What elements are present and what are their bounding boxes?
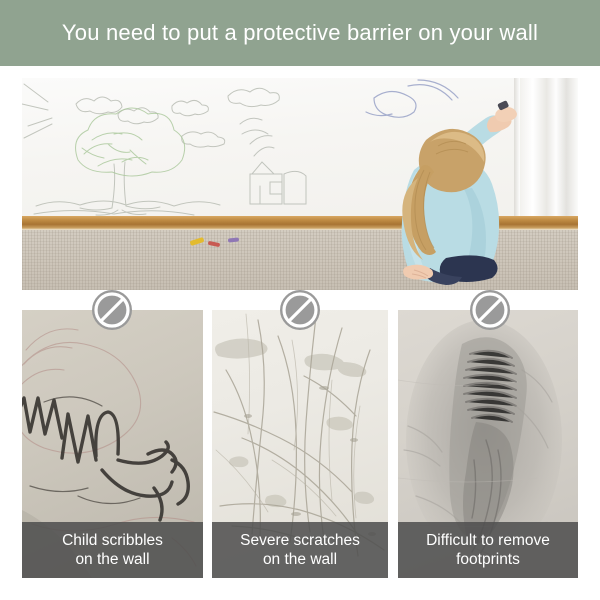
child-figure bbox=[322, 100, 522, 290]
caption-line-1: Severe scratches bbox=[240, 531, 360, 550]
panel-child-scribbles: Child scribbles on the wall bbox=[22, 310, 203, 578]
hero-photo bbox=[22, 78, 578, 290]
product-infographic: You need to put a protective barrier on … bbox=[0, 0, 600, 600]
prohibition-icon bbox=[469, 289, 511, 331]
caption-line-1: Child scribbles bbox=[62, 531, 163, 550]
prohibition-icon bbox=[279, 289, 321, 331]
header-band: You need to put a protective barrier on … bbox=[0, 0, 600, 66]
caption-line-2: footprints bbox=[456, 550, 520, 569]
panel-footprints-caption: Difficult to remove footprints bbox=[398, 522, 578, 578]
page-title: You need to put a protective barrier on … bbox=[62, 20, 538, 46]
panel-footprints: Difficult to remove footprints bbox=[398, 310, 578, 578]
caption-line-1: Difficult to remove bbox=[426, 531, 550, 550]
panel-severe-scratches: Severe scratches on the wall bbox=[212, 310, 388, 578]
panel-severe-scratches-caption: Severe scratches on the wall bbox=[212, 522, 388, 578]
hero-door-trim bbox=[520, 78, 578, 220]
panel-child-scribbles-caption: Child scribbles on the wall bbox=[22, 522, 203, 578]
caption-line-2: on the wall bbox=[75, 550, 149, 569]
prohibition-icon bbox=[91, 289, 133, 331]
damage-panels: Child scribbles on the wall bbox=[0, 310, 600, 580]
caption-line-2: on the wall bbox=[263, 550, 337, 569]
